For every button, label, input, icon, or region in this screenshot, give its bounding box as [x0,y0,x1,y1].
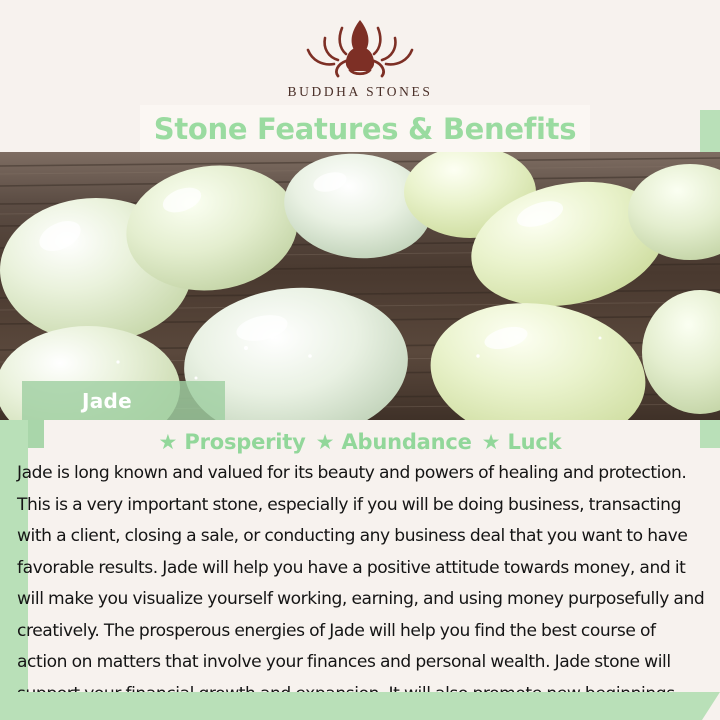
keyword-item-prosperity: ★ Prosperity [159,430,306,454]
keyword-label: Abundance [341,430,471,454]
stone-description: Jade is long known and valued for its be… [17,458,707,720]
brand-logo: BUDDHA STONES [0,14,720,100]
lotus-meditation-icon [294,14,426,82]
keyword-label: Prosperity [184,430,305,454]
jade-stones-photo [0,152,720,420]
keyword-label: Luck [508,430,562,454]
stone-info-card: BUDDHA STONES Stone Features & Benefits [0,0,720,720]
frame-bottom-green-band [0,692,720,720]
page-title: Stone Features & Benefits [154,112,576,146]
star-icon: ★ [482,432,501,453]
keyword-item-abundance: ★ Abundance [316,430,472,454]
keyword-item-luck: ★ Luck [482,430,562,454]
stone-name-label: Jade [82,389,132,413]
brand-name: BUDDHA STONES [0,84,720,100]
photo-artwork [0,152,720,420]
star-icon: ★ [159,432,178,453]
title-banner: Stone Features & Benefits [140,105,590,152]
brand-header: BUDDHA STONES [0,0,720,110]
stone-name-band: Jade [22,381,225,420]
star-icon: ★ [316,432,335,453]
keyword-list: ★ Prosperity ★ Abundance ★ Luck [0,430,720,454]
